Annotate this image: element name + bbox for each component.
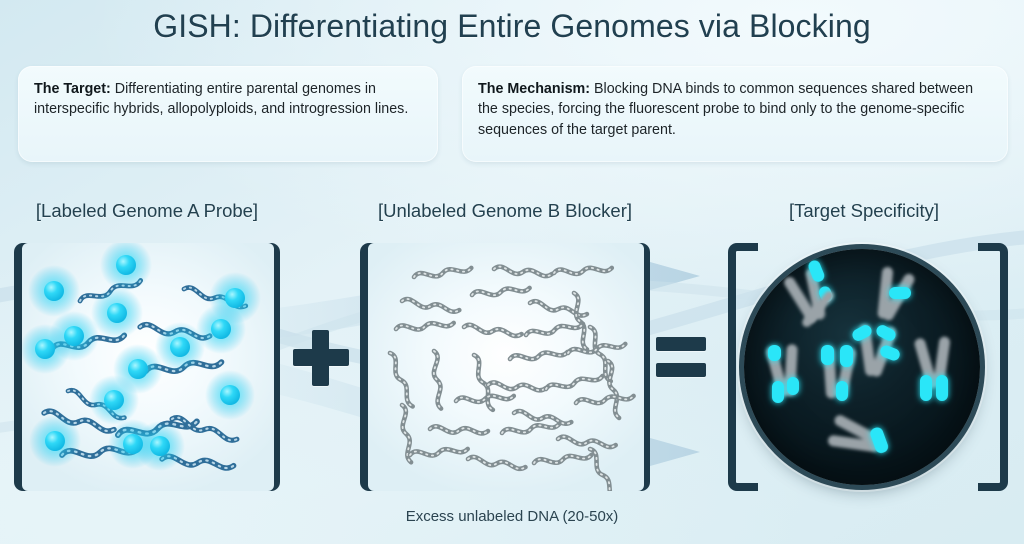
blocker-dna-illustration	[368, 243, 644, 491]
chromosome-spread	[744, 249, 980, 485]
equals-bar-bottom	[656, 363, 706, 377]
bracket-right-panel-result	[978, 243, 1008, 491]
equals-bar-top	[656, 337, 706, 351]
operator-plus	[293, 330, 349, 386]
operator-equals	[656, 337, 706, 379]
panel-unlabeled-blocker	[368, 243, 644, 491]
infographic-canvas: GISH: Differentiating Entire Genomes via…	[0, 0, 1024, 544]
panel-labeled-probe	[22, 243, 274, 491]
microscope-field	[744, 249, 980, 485]
probe-dna-illustration	[22, 243, 274, 491]
footnote-excess-dna: Excess unlabeled DNA (20-50x)	[312, 508, 712, 525]
